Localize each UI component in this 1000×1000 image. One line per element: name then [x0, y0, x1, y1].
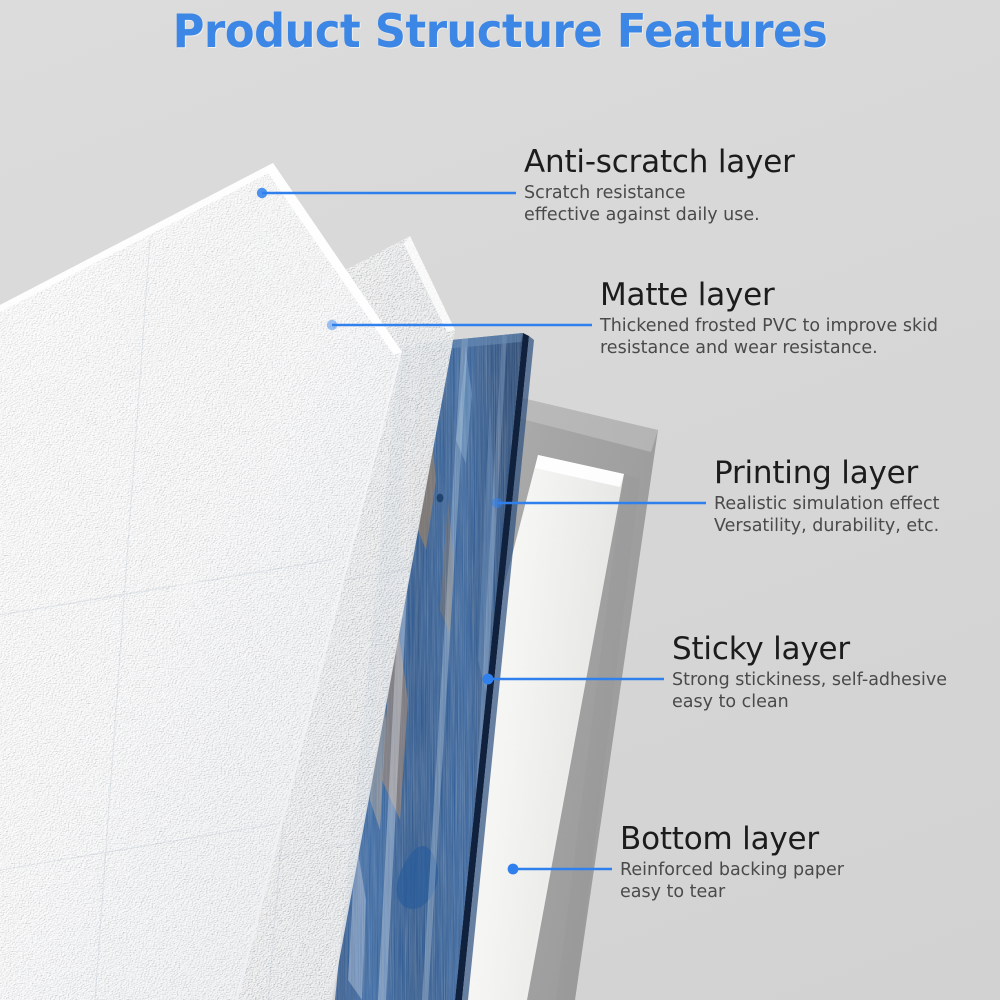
callout-sticky: Sticky layer Strong stickiness, self-adh… — [672, 633, 947, 714]
callout-anti-scratch: Anti-scratch layer Scratch resistance ef… — [524, 146, 795, 227]
callout-heading-anti-scratch: Anti-scratch layer — [524, 146, 795, 179]
callout-sub-matte: Thickened frosted PVC to improve skid re… — [600, 315, 938, 361]
callout-sub-bottom: Reinforced backing paper easy to tear — [620, 859, 844, 905]
callout-heading-bottom: Bottom layer — [620, 823, 844, 856]
callout-heading-sticky: Sticky layer — [672, 633, 947, 666]
leader-line-sticky — [483, 674, 664, 685]
callout-sub-printing: Realistic simulation effect Versatility,… — [714, 493, 939, 539]
callout-printing: Printing layer Realistic simulation effe… — [714, 457, 939, 538]
callout-matte: Matte layer Thickened frosted PVC to imp… — [600, 279, 938, 360]
leader-line-printing — [492, 498, 706, 508]
infographic-canvas: Product Structure Features Anti-scratch … — [0, 0, 1000, 1000]
callout-bottom: Bottom layer Reinforced backing paper ea… — [620, 823, 844, 904]
callout-sub-anti-scratch: Scratch resistance effective against dai… — [524, 182, 795, 228]
callout-heading-printing: Printing layer — [714, 457, 939, 490]
leader-line-bottom — [508, 864, 612, 875]
leader-line-anti-scratch — [257, 188, 516, 198]
callout-heading-matte: Matte layer — [600, 279, 938, 312]
callout-sub-sticky: Strong stickiness, self-adhesive easy to… — [672, 669, 947, 715]
leader-line-matte — [327, 320, 592, 330]
